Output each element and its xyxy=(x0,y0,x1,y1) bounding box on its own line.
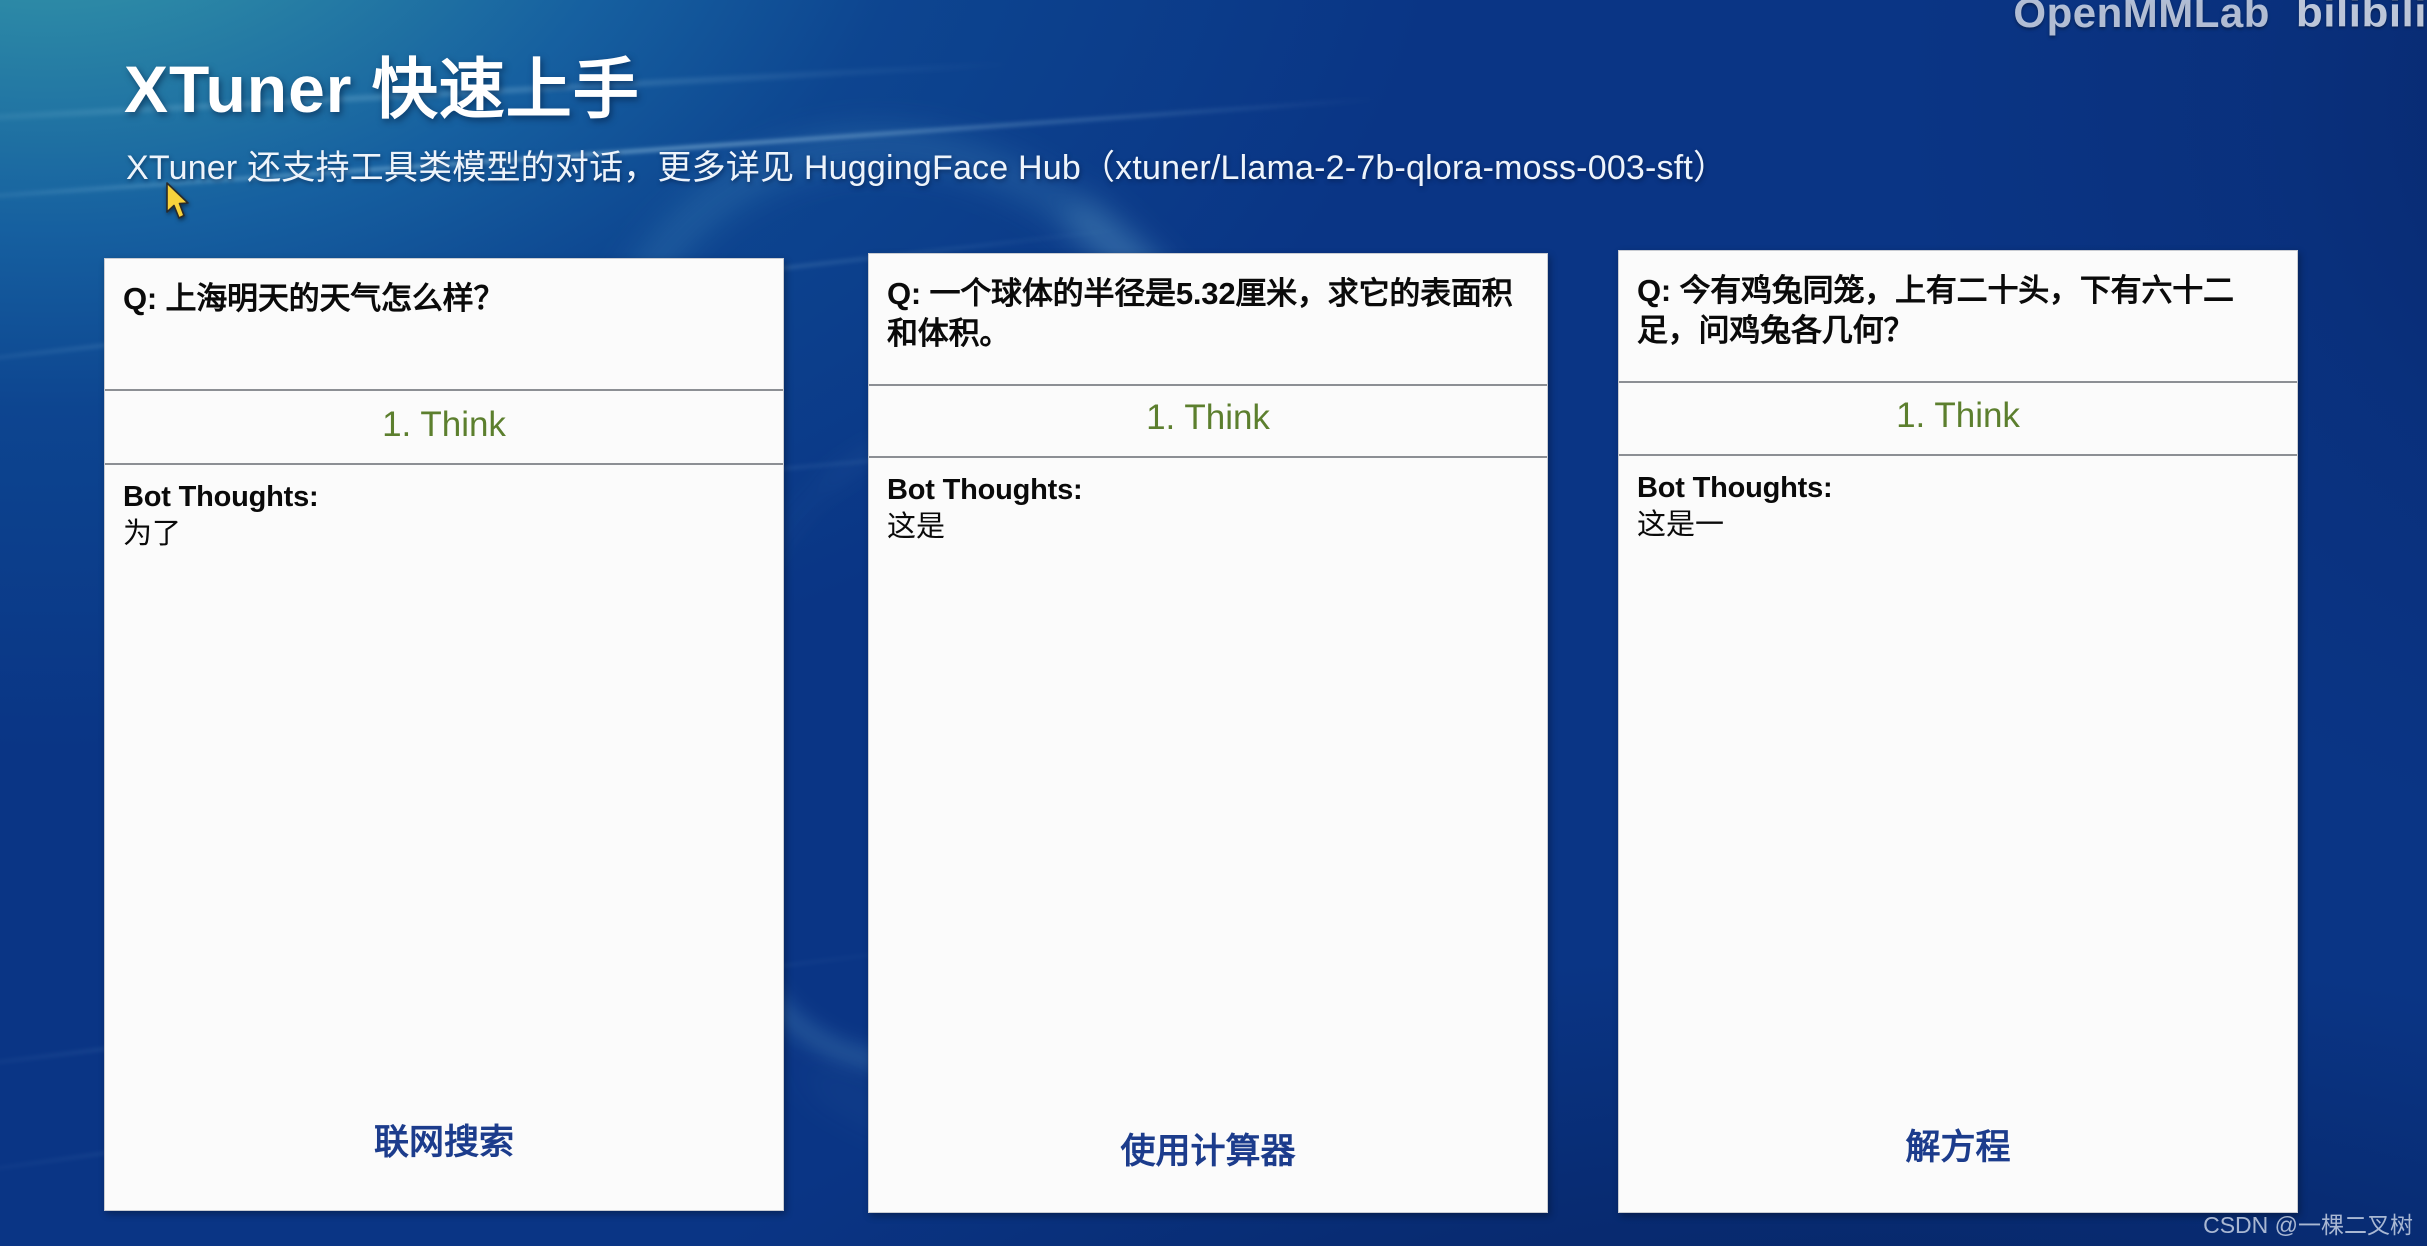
card-question: Q: 一个球体的半径是5.32厘米，求它的表面积和体积。 xyxy=(869,254,1547,384)
card-bot-thoughts: Bot Thoughts: 为了 xyxy=(105,465,783,1114)
card-step-label: 1. Think xyxy=(105,389,783,465)
bot-thoughts-text: 这是 xyxy=(887,509,1529,546)
bot-thoughts-label: Bot Thoughts: xyxy=(1637,470,2279,507)
bot-thoughts-text: 这是一 xyxy=(1637,507,2279,544)
bot-thoughts-label: Bot Thoughts: xyxy=(887,472,1529,509)
presentation-slide: OpenMMLab bilibili XTuner 快速上手 XTuner 还支… xyxy=(0,0,2427,1246)
watermark-top-right: OpenMMLab bilibili xyxy=(2013,0,2427,38)
csdn-watermark-label: CSDN @一棵二叉树 xyxy=(2203,1206,2413,1240)
card-bot-thoughts: Bot Thoughts: 这是一 xyxy=(1619,456,2297,1119)
bot-thoughts-label: Bot Thoughts: xyxy=(123,479,765,516)
openmmlab-watermark-label: OpenMMLab xyxy=(2013,0,2269,37)
card-question: Q: 上海明天的天气怎么样？ xyxy=(105,259,783,389)
page-subtitle: XTuner 还支持工具类模型的对话，更多详见 HuggingFace Hub（… xyxy=(126,140,1727,189)
card-step-label: 1. Think xyxy=(1619,381,2297,456)
card-bot-thoughts: Bot Thoughts: 这是 xyxy=(869,458,1547,1123)
example-card-calculator[interactable]: Q: 一个球体的半径是5.32厘米，求它的表面积和体积。 1. Think Bo… xyxy=(868,253,1548,1213)
card-action-label: 解方程 xyxy=(1619,1119,2297,1212)
example-card-solve-equation[interactable]: Q: 今有鸡兔同笼，上有二十头，下有六十二足，问鸡兔各几何？ 1. Think … xyxy=(1618,250,2298,1213)
card-step-label: 1. Think xyxy=(869,384,1547,458)
bot-thoughts-text: 为了 xyxy=(123,516,765,553)
page-title: XTuner 快速上手 xyxy=(124,36,640,132)
bilibili-watermark-label: bilibili xyxy=(2296,0,2427,37)
card-action-label: 使用计算器 xyxy=(869,1123,1547,1212)
card-question: Q: 今有鸡兔同笼，上有二十头，下有六十二足，问鸡兔各几何？ xyxy=(1619,251,2297,381)
card-action-label: 联网搜索 xyxy=(105,1114,783,1210)
example-card-web-search[interactable]: Q: 上海明天的天气怎么样？ 1. Think Bot Thoughts: 为了… xyxy=(104,258,784,1211)
